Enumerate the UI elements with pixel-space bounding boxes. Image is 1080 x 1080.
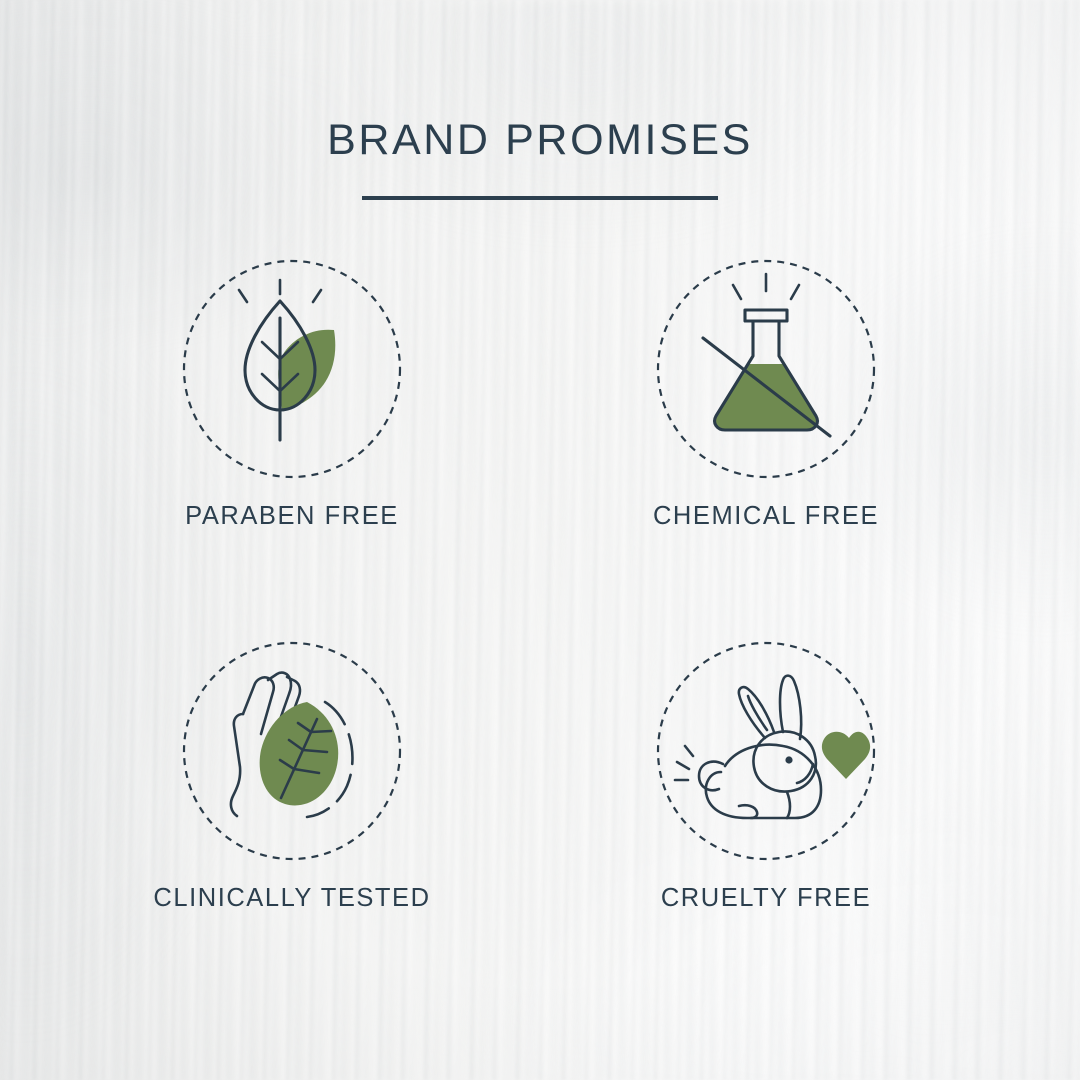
rabbit-eye (785, 756, 792, 763)
promise-item-cruelty-free: CRUELTY FREE (616, 640, 916, 913)
promises-grid: PARABEN FREE (0, 258, 1080, 958)
hand-leaf-vein-1 (311, 731, 331, 732)
promise-item-clinically-tested: CLINICALLY TESTED (142, 640, 442, 913)
promise-item-chemical-free: CHEMICAL FREE (616, 258, 916, 531)
flask-liquid (705, 364, 830, 434)
promise-badge-cruelty-free (655, 640, 877, 862)
ray-left (239, 290, 247, 302)
promise-label: CHEMICAL FREE (616, 502, 916, 531)
hand-leaf-icon (231, 673, 353, 817)
promise-badge-paraben-free (181, 258, 403, 480)
promise-badge-clinically-tested (181, 640, 403, 862)
flask-slash-icon (703, 274, 830, 436)
hand-leaf-blade (260, 702, 339, 805)
ray-right (791, 285, 799, 299)
promise-label: CRUELTY FREE (616, 884, 916, 913)
motion-line-2 (685, 746, 693, 756)
promise-badge-chemical-free (655, 258, 877, 480)
hand-thumb-palm (231, 714, 243, 816)
flask-collar (745, 310, 787, 321)
rabbit-head (753, 732, 815, 792)
rabbit-heart-icon (675, 676, 870, 818)
page-title: BRAND PROMISES (0, 116, 1080, 165)
leaf-icon (239, 280, 335, 440)
rabbit-front-leg (787, 792, 790, 818)
hand-index-finger (243, 677, 274, 734)
rabbit-ear-front (780, 676, 801, 739)
promise-label: CLINICALLY TESTED (142, 884, 442, 913)
leaf-vein-left-lower (262, 374, 280, 391)
ray-left (733, 285, 741, 299)
title-divider (362, 196, 718, 200)
ray-right (313, 290, 321, 302)
brand-promises-page: BRAND PROMISES (0, 0, 1080, 1080)
promise-item-paraben-free: PARABEN FREE (142, 258, 442, 531)
rabbit-hind-foot (739, 805, 757, 818)
promise-label: PARABEN FREE (142, 502, 442, 531)
leaf-vein-left-upper (262, 342, 280, 359)
content-area: BRAND PROMISES (0, 0, 1080, 1080)
motion-line-1 (677, 762, 689, 769)
heart-icon (822, 732, 870, 779)
